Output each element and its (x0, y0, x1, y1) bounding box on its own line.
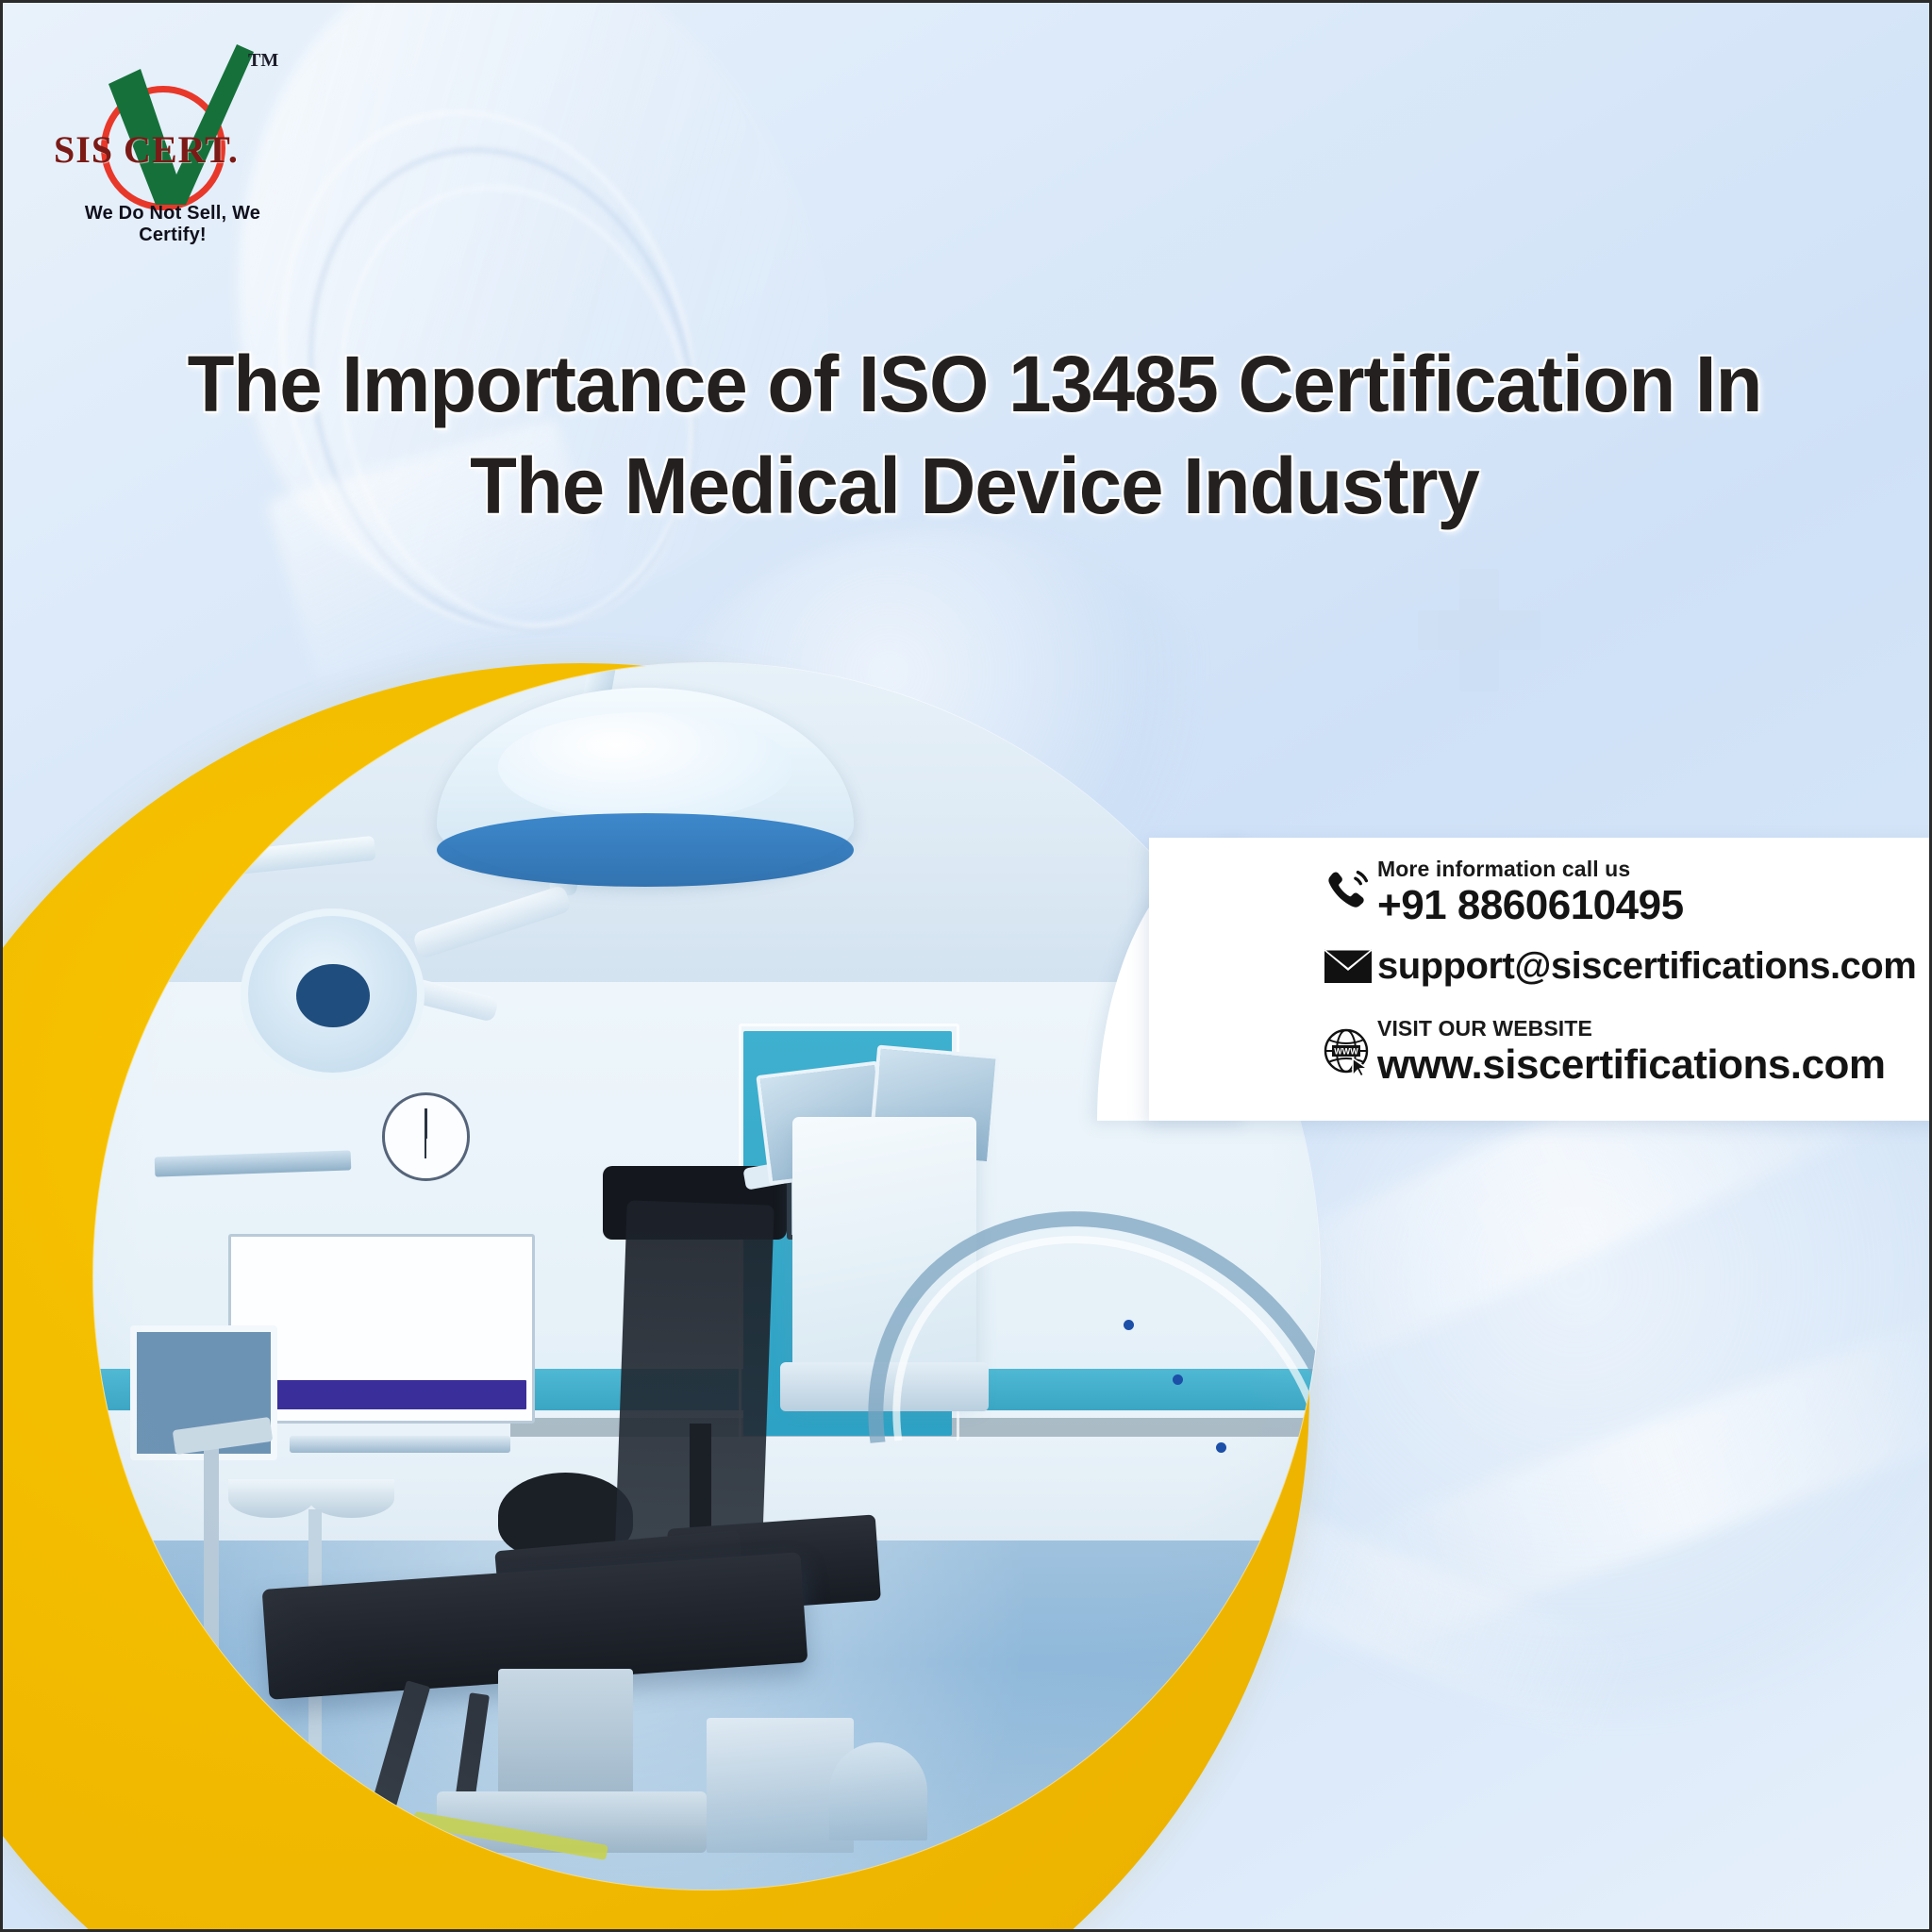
or-blue-fixture-1 (192, 805, 253, 860)
contact-details: More information call us +91 8860610495 … (1319, 857, 1932, 1100)
medical-plus-icon (1418, 569, 1541, 691)
contact-email-row[interactable]: support@siscertifications.com (1319, 944, 1932, 988)
page-title-line-2: The Medical Device Industry (124, 435, 1825, 537)
trademark-symbol: TM (248, 50, 278, 72)
poster-canvas: TM SIS CERT. We Do Not Sell, We Certify!… (0, 0, 1932, 1932)
contact-phone-row[interactable]: More information call us +91 8860610495 (1319, 857, 1932, 929)
page-title: The Importance of ISO 13485 Certificatio… (97, 333, 1852, 537)
phone-number[interactable]: +91 8860610495 (1377, 882, 1932, 929)
logo-tagline: We Do Not Sell, We Certify! (50, 203, 295, 246)
globe-www-cursor-icon: WWW (1319, 1026, 1377, 1079)
photo-scene (93, 663, 1320, 1890)
svg-text:WWW: WWW (1334, 1046, 1358, 1056)
phone-ringing-icon (1319, 868, 1377, 919)
operating-room-photo (93, 663, 1320, 1890)
logo-mark: TM (63, 37, 261, 211)
page-title-line-1: The Importance of ISO 13485 Certificatio… (124, 333, 1825, 435)
phone-label: More information call us (1377, 857, 1932, 882)
website-url[interactable]: www.siscertifications.com (1377, 1041, 1932, 1089)
website-label: VISIT OUR WEBSITE (1377, 1016, 1932, 1041)
photo-vignette (93, 663, 1320, 1890)
envelope-icon (1319, 947, 1377, 985)
green-check-icon (95, 42, 265, 208)
contact-website-row[interactable]: WWW VISIT OUR WEBSITE www.siscertificati… (1319, 1016, 1932, 1089)
email-address[interactable]: support@siscertifications.com (1377, 944, 1932, 988)
logo-wordmark: SIS CERT. (54, 127, 271, 172)
brand-logo[interactable]: TM SIS CERT. We Do Not Sell, We Certify! (29, 37, 303, 254)
